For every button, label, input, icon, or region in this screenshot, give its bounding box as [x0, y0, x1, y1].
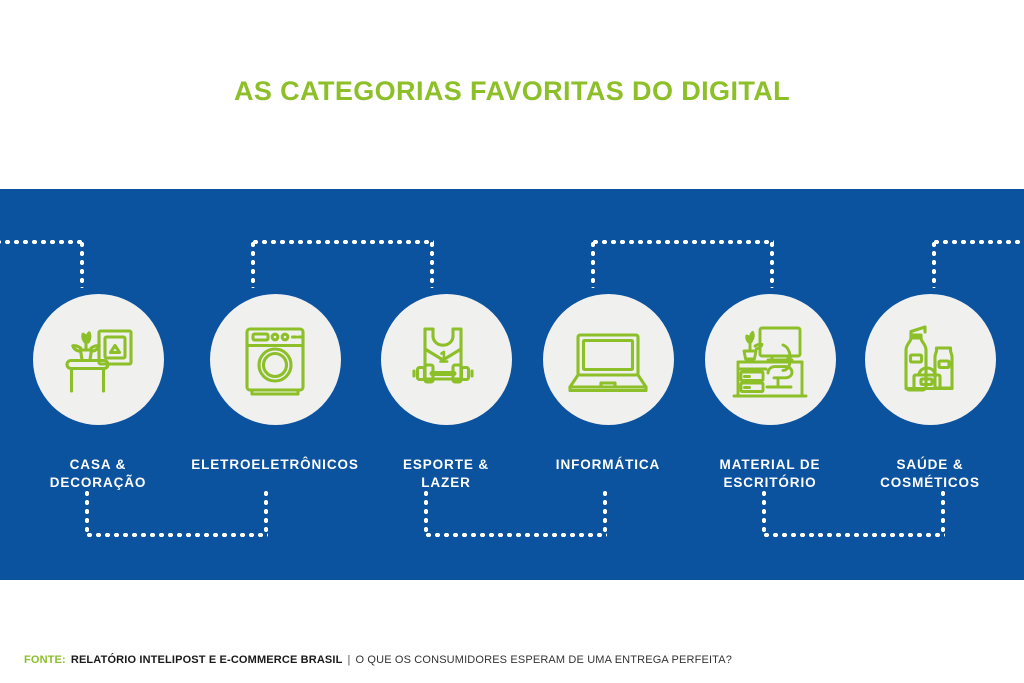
category-label: INFORMÁTICA	[556, 456, 660, 474]
category-icon-circle	[705, 294, 836, 425]
category-icon-circle	[33, 294, 164, 425]
category-item-informatica[interactable]: INFORMÁTICA	[524, 294, 692, 474]
category-list: CASA & DECORAÇÃO	[0, 189, 1024, 580]
category-label: SAÚDE & COSMÉTICOS	[880, 456, 980, 492]
office-desk-icon	[727, 317, 813, 403]
footer-source-line: FONTE: RELATÓRIO INTELIPOST E E-COMMERCE…	[24, 654, 732, 666]
category-item-saude-cosmeticos[interactable]: SAÚDE & COSMÉTICOS	[846, 294, 1014, 492]
category-icon-circle	[543, 294, 674, 425]
footer: FONTE: RELATÓRIO INTELIPOST E E-COMMERCE…	[0, 580, 1024, 683]
infographic-page: AS CATEGORIAS FAVORITAS DO DIGITAL	[0, 0, 1024, 683]
category-item-casa-decoracao[interactable]: CASA & DECORAÇÃO	[14, 294, 182, 492]
cosmetics-icon	[887, 317, 973, 403]
category-label: MATERIAL DE ESCRITÓRIO	[720, 456, 821, 492]
washing-machine-icon	[232, 317, 318, 403]
footer-description: O QUE OS CONSUMIDORES ESPERAM DE UMA ENT…	[356, 654, 732, 666]
blue-content-panel: CASA & DECORAÇÃO	[0, 189, 1024, 580]
category-icon-circle	[865, 294, 996, 425]
footer-source-name: RELATÓRIO INTELIPOST E E-COMMERCE BRASIL	[71, 654, 343, 666]
category-icon-circle	[210, 294, 341, 425]
footer-fonte-label: FONTE:	[24, 654, 66, 666]
category-item-material-escritorio[interactable]: MATERIAL DE ESCRITÓRIO	[686, 294, 854, 492]
category-label: ESPORTE & LAZER	[403, 456, 489, 492]
category-label: ELETROELETRÔNICOS	[191, 456, 359, 474]
home-decor-icon	[55, 317, 141, 403]
category-icon-circle	[381, 294, 512, 425]
category-label: CASA & DECORAÇÃO	[50, 456, 147, 492]
sports-jersey-dumbbell-icon	[403, 317, 489, 403]
page-title: AS CATEGORIAS FAVORITAS DO DIGITAL	[234, 76, 790, 113]
footer-separator: |	[347, 654, 350, 666]
category-item-esporte-lazer[interactable]: ESPORTE & LAZER	[362, 294, 530, 492]
title-area: AS CATEGORIAS FAVORITAS DO DIGITAL	[0, 0, 1024, 189]
laptop-icon	[565, 317, 651, 403]
category-item-eletroeletronicos[interactable]: ELETROELETRÔNICOS	[191, 294, 359, 474]
